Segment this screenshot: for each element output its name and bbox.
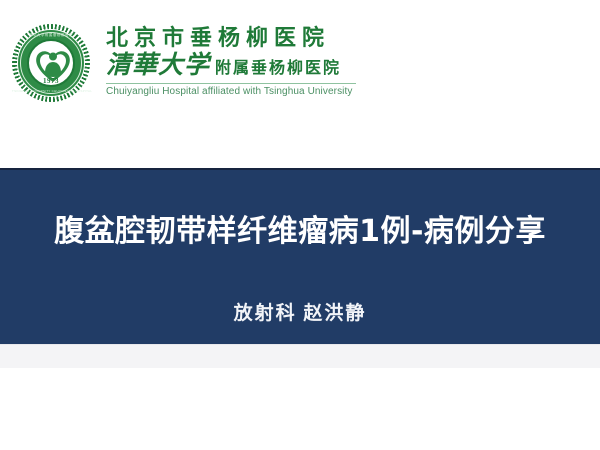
footer-gray-strip xyxy=(0,344,600,368)
title-band: 腹盆腔韧带样纤维瘤病1例-病例分享 放射科 赵洪静 xyxy=(0,168,600,344)
wordmark-affiliation-cn: 附属垂杨柳医院 xyxy=(215,59,341,77)
hospital-logo: 清华大学附属垂杨柳医院 TSINGHUA UNIVERSITY CHUIYANG… xyxy=(12,24,356,102)
slide-title: 腹盆腔韧带样纤维瘤病1例-病例分享 xyxy=(0,206,600,250)
hospital-letterhead: 清华大学附属垂杨柳医院 TSINGHUA UNIVERSITY CHUIYANG… xyxy=(0,0,600,168)
wordmark-tsinghua-cursive: 清華大学 xyxy=(106,52,210,80)
hospital-wordmark: 北京市垂杨柳医院 清華大学 附属垂杨柳医院 Chuiyangliu Hospit… xyxy=(106,24,356,97)
wordmark-affiliation-line: 清華大学 附属垂杨柳医院 xyxy=(106,52,356,80)
wordmark-hospital-name-cn: 北京市垂杨柳医院 xyxy=(106,26,356,51)
slide-subtitle: 放射科 赵洪静 xyxy=(0,298,600,325)
seal-arc-bottom-text: TSINGHUA UNIVERSITY CHUIYANGLIU HOSPITAL xyxy=(12,90,90,93)
wordmark-divider xyxy=(106,83,356,84)
hospital-seal-icon: 清华大学附属垂杨柳医院 TSINGHUA UNIVERSITY CHUIYANG… xyxy=(12,24,90,102)
wordmark-hospital-name-en: Chuiyangliu Hospital affiliated with Tsi… xyxy=(106,86,356,97)
footer-white-area xyxy=(0,368,600,450)
seal-year-label: 1973 xyxy=(12,77,90,85)
presentation-slide: 清华大学附属垂杨柳医院 TSINGHUA UNIVERSITY CHUIYANG… xyxy=(0,0,600,450)
seal-arc-top-text: 清华大学附属垂杨柳医院 xyxy=(12,34,90,37)
